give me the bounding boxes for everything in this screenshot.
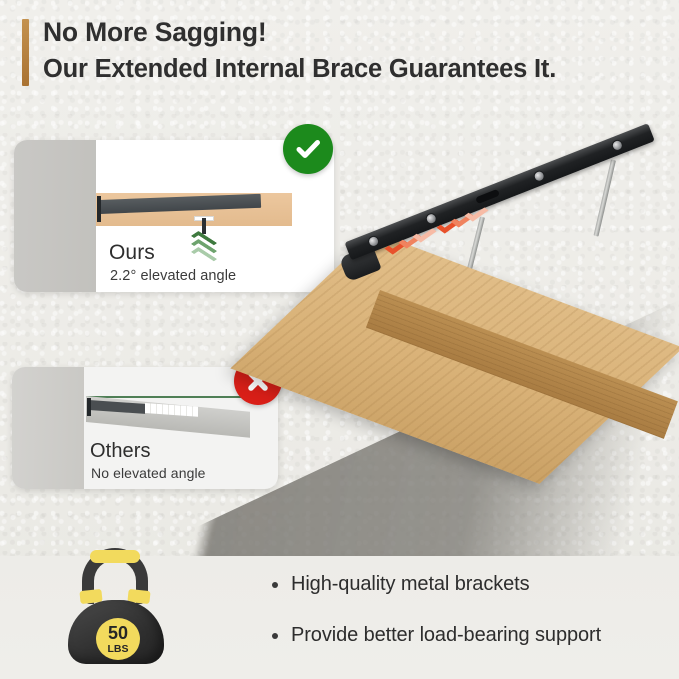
weight-value: 50 <box>108 624 128 642</box>
wall-block <box>12 367 84 489</box>
others-wall-plate <box>87 398 91 416</box>
bracket-screw <box>532 169 546 183</box>
bullet-dot-icon <box>272 582 278 588</box>
check-badge-icon <box>283 124 333 174</box>
kettlebell-grip <box>90 550 140 563</box>
feature-item: Provide better load-bearing support <box>272 623 672 648</box>
accent-bar <box>22 19 29 86</box>
ours-label: Ours <box>109 241 155 265</box>
weight-badge: 50 LBS <box>96 618 140 660</box>
headline-line-2: Our Extended Internal Brace Guarantees I… <box>43 51 662 88</box>
feature-text: Provide better load-bearing support <box>291 623 601 648</box>
others-sublabel: No elevated angle <box>91 465 206 481</box>
kettlebell-body: 50 LBS <box>68 600 164 664</box>
ours-wall-plate <box>97 196 101 222</box>
ours-support-post <box>202 218 206 234</box>
kettlebell-icon: 50 LBS <box>58 548 174 666</box>
others-reference-line <box>86 396 251 398</box>
bracket-slot <box>475 189 500 204</box>
feature-text: High-quality metal brackets <box>291 572 530 597</box>
bracket-screw <box>424 212 438 226</box>
support-rod <box>594 159 616 236</box>
headline-line-1: No More Sagging! <box>43 14 662 51</box>
feature-item: High-quality metal brackets <box>272 572 672 597</box>
header: No More Sagging! Our Extended Internal B… <box>22 14 662 88</box>
weight-unit: LBS <box>108 644 129 655</box>
product-photo <box>334 104 679 454</box>
wall-block <box>14 140 96 292</box>
bracket-screw <box>610 138 624 152</box>
comparison-card-ours: Ours 2.2° elevated angle <box>14 140 334 292</box>
feature-list: High-quality metal brackets Provide bett… <box>272 572 672 674</box>
bullet-dot-icon <box>272 633 278 639</box>
bracket-screw <box>366 234 380 248</box>
infographic-stage: No More Sagging! Our Extended Internal B… <box>0 0 679 679</box>
elevation-arrows-icon <box>193 235 217 269</box>
ours-sublabel: 2.2° elevated angle <box>110 268 236 284</box>
others-label: Others <box>90 440 151 463</box>
